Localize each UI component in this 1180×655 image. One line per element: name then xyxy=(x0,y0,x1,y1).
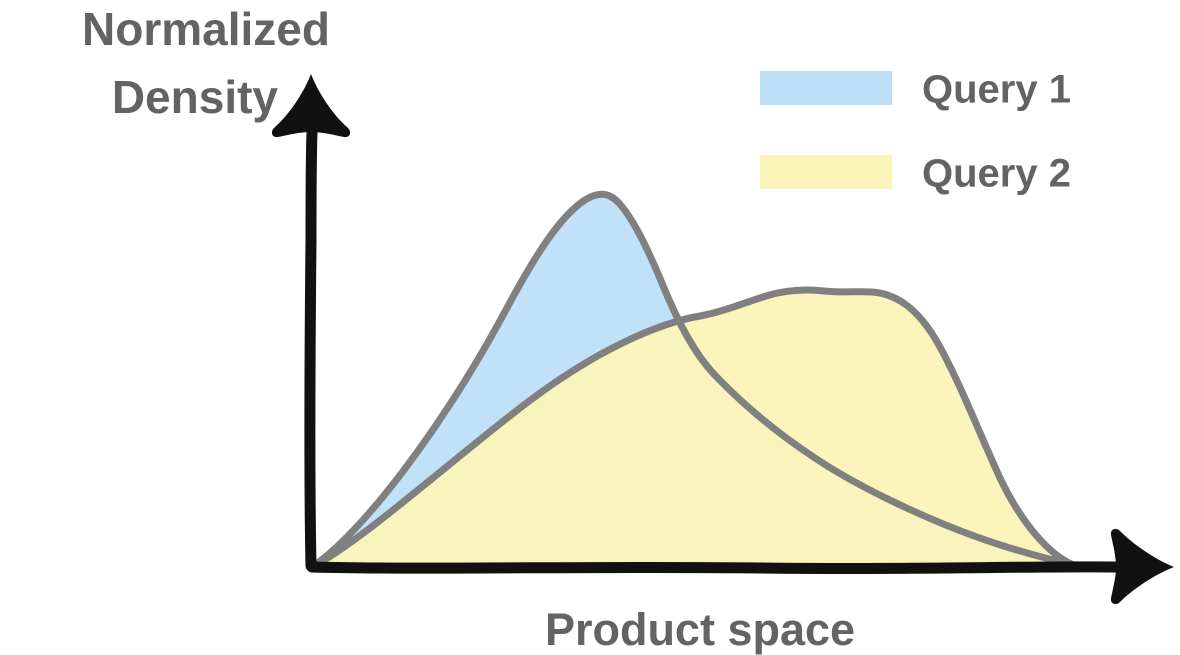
legend-swatch-query-1 xyxy=(760,71,892,105)
x-axis-line xyxy=(312,567,1118,569)
legend-swatch-query-2 xyxy=(760,155,892,189)
chart-legend: Query 1 Query 2 xyxy=(760,68,1071,196)
chart-figure: Normalized Density Product space xyxy=(0,0,1180,655)
legend-label-query-2: Query 2 xyxy=(922,152,1071,196)
plot-area xyxy=(312,194,1096,567)
legend-label-query-1: Query 1 xyxy=(922,68,1071,112)
arrow-up-icon xyxy=(272,74,350,137)
y-axis-label-line1: Normalized xyxy=(82,3,330,55)
arrow-right-icon xyxy=(1111,529,1174,604)
y-axis-label-line2: Density xyxy=(112,71,279,123)
x-axis-label: Product space xyxy=(545,604,855,655)
density-chart-canvas: Normalized Density Product space xyxy=(0,0,1180,655)
y-axis-line xyxy=(310,132,312,566)
